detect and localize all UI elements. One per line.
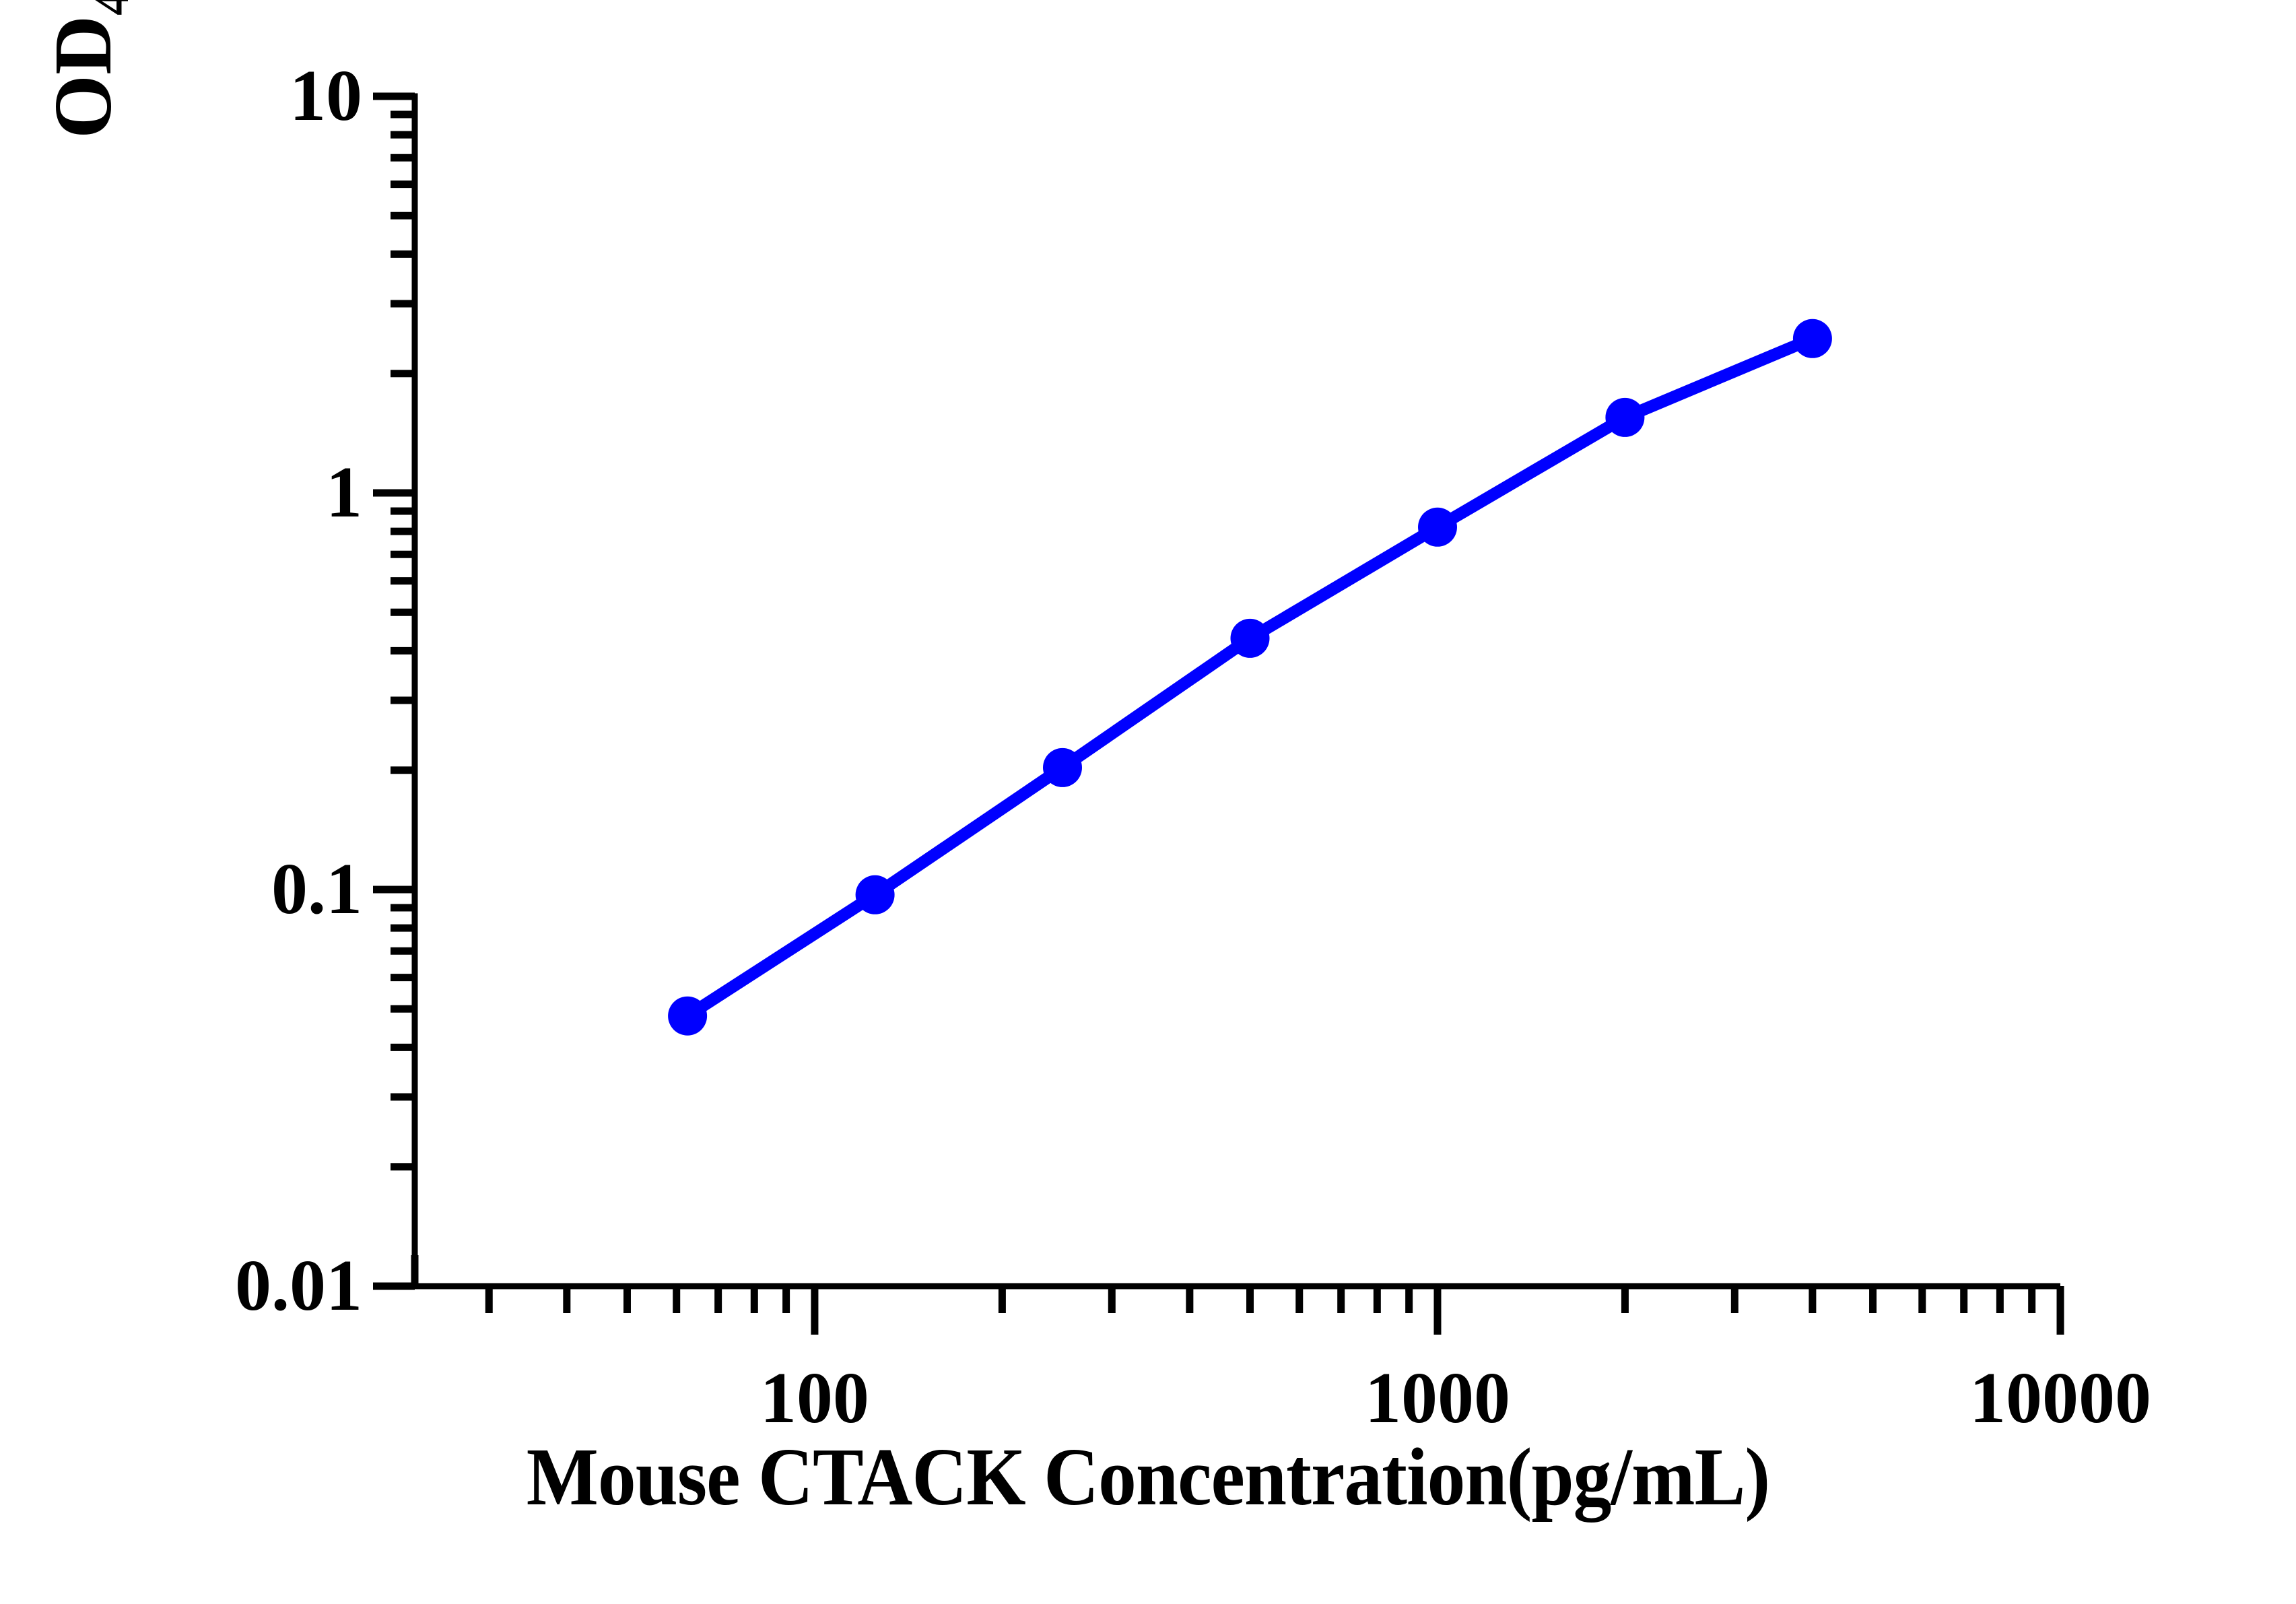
y-tick-label-0.01: 0.01 — [0, 1244, 362, 1328]
data-point-5 — [1605, 398, 1644, 437]
y-tick-label-10: 10 — [0, 55, 362, 138]
x-tick-label-1000: 1000 — [1365, 1357, 1510, 1440]
y-tick-label-0.1: 0.1 — [0, 848, 362, 931]
y-tick-label-1: 1 — [0, 451, 362, 535]
chart-figure: 10 1 0.1 0.01 100 1000 10000 OD450nm Mou… — [0, 0, 2296, 1604]
data-point-3 — [1231, 619, 1270, 658]
x-axis-ticks — [415, 1255, 2060, 1335]
data-point-0 — [668, 997, 707, 1036]
data-point-2 — [1043, 748, 1082, 787]
chart-plot-area — [0, 0, 2296, 1604]
x-tick-label-100: 100 — [760, 1357, 869, 1440]
data-point-1 — [856, 875, 895, 914]
x-axis-title: Mouse CTACK Concentration(pg/mL) — [80, 1434, 2215, 1521]
data-point-4 — [1418, 508, 1457, 547]
data-series-standard-curve — [668, 319, 1832, 1036]
x-tick-label-10000: 10000 — [1969, 1357, 2151, 1440]
axis-spines — [412, 94, 2061, 1290]
y-axis-ticks — [373, 96, 415, 1286]
data-point-6 — [1793, 319, 1832, 358]
